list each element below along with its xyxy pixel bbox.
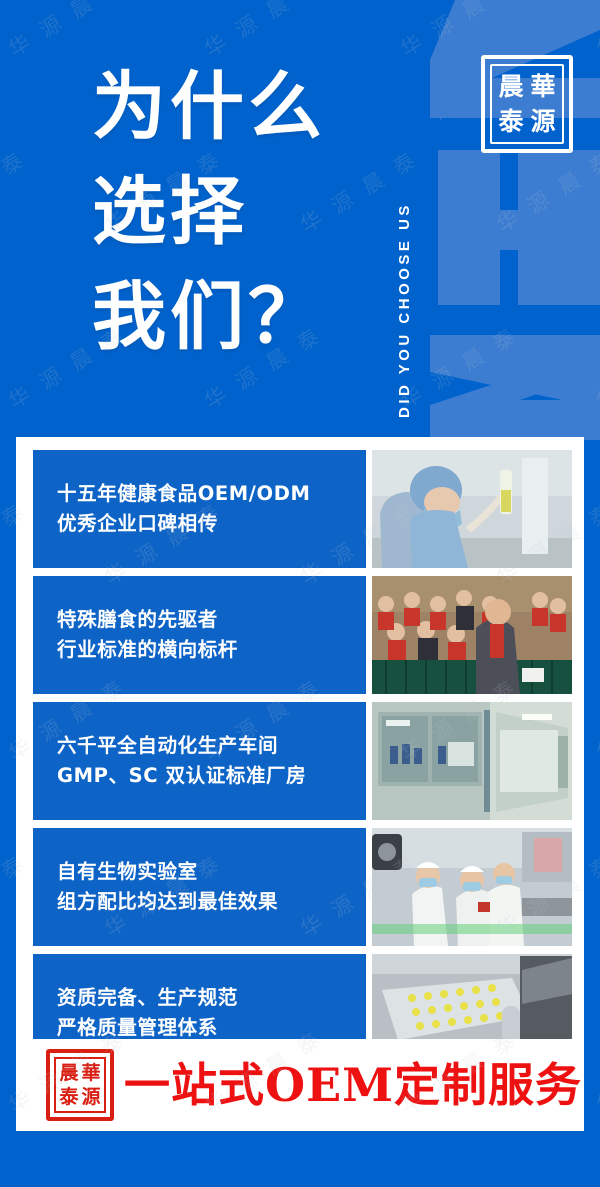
title-line-2: 选择 (92, 160, 326, 265)
hero-section: 为什么 选择 我们？ DID YOU CHOOSE US 華 源 晨 泰 (0, 0, 600, 437)
seal-char-4: 泰 (495, 104, 527, 139)
feature-panel: 十五年健康食品OEM/ODM 优秀企业口碑相传 (16, 437, 584, 1131)
seal-char-4: 泰 (58, 1085, 80, 1109)
brand-seal-logo: 華 源 晨 泰 (481, 55, 573, 153)
watermark-text: 华 源 晨 泰 (590, 671, 600, 768)
bottom-blue-strip (0, 1131, 600, 1187)
feature-card-text: 十五年健康食品OEM/ODM 优秀企业口碑相传 (33, 450, 366, 568)
feature-line: 组方配比均达到最佳效果 (57, 887, 366, 917)
vertical-tagline: DID YOU CHOOSE US (396, 18, 422, 418)
page-title: 为什么 选择 我们？ (92, 55, 326, 370)
feature-photo-worker-inspecting-vial-in-lab (372, 450, 572, 568)
feature-line: 自有生物实验室 (57, 857, 366, 887)
feature-line: 行业标准的横向标杆 (57, 635, 366, 665)
feature-line: 优秀企业口碑相传 (57, 509, 366, 539)
feature-line: 特殊膳食的先驱者 (57, 605, 366, 635)
feature-card[interactable]: 特殊膳食的先驱者 行业标准的横向标杆 (33, 576, 572, 694)
cta-banner-text: 一站式OEM定制服务 (124, 1062, 582, 1108)
title-line-1: 为什么 (92, 55, 326, 160)
seal-char-3: 晨 (495, 69, 527, 104)
brand-seal-logo-red: 華 源 晨 泰 (46, 1049, 114, 1121)
seal-char-2: 源 (527, 104, 559, 139)
feature-line: 资质完备、生产规范 (57, 983, 366, 1013)
seal-char-2: 源 (80, 1085, 102, 1109)
feature-line: GMP、SC 双认证标准厂房 (57, 761, 366, 791)
feature-photo-technicians-in-white-coats-at-packaging-line (372, 828, 572, 946)
feature-card-list: 十五年健康食品OEM/ODM 优秀企业口碑相传 (33, 450, 572, 1080)
seal-char-1: 華 (80, 1061, 102, 1085)
feature-card[interactable]: 十五年健康食品OEM/ODM 优秀企业口碑相传 (33, 450, 572, 568)
feature-card-text: 特殊膳食的先驱者 行业标准的横向标杆 (33, 576, 366, 694)
poster-root: 为什么 选择 我们？ DID YOU CHOOSE US 華 源 晨 泰 十五年… (0, 0, 600, 1187)
feature-card[interactable]: 自有生物实验室 组方配比均达到最佳效果 (33, 828, 572, 946)
feature-card-text: 自有生物实验室 组方配比均达到最佳效果 (33, 828, 366, 946)
cta-banner: 華 源 晨 泰 一站式OEM定制服务 (16, 1039, 584, 1131)
feature-photo-conference-audience-with-red-scarves (372, 576, 572, 694)
feature-line: 十五年健康食品OEM/ODM (57, 479, 366, 509)
feature-card-text: 六千平全自动化生产车间 GMP、SC 双认证标准厂房 (33, 702, 366, 820)
title-line-3: 我们？ (92, 265, 326, 370)
seal-char-1: 華 (527, 69, 559, 104)
feature-line: 六千平全自动化生产车间 (57, 731, 366, 761)
feature-photo-automated-production-cleanroom-corridor (372, 702, 572, 820)
seal-char-3: 晨 (58, 1061, 80, 1085)
watermark-text: 华 源 晨 泰 (590, 1023, 600, 1120)
feature-card[interactable]: 六千平全自动化生产车间 GMP、SC 双认证标准厂房 (33, 702, 572, 820)
